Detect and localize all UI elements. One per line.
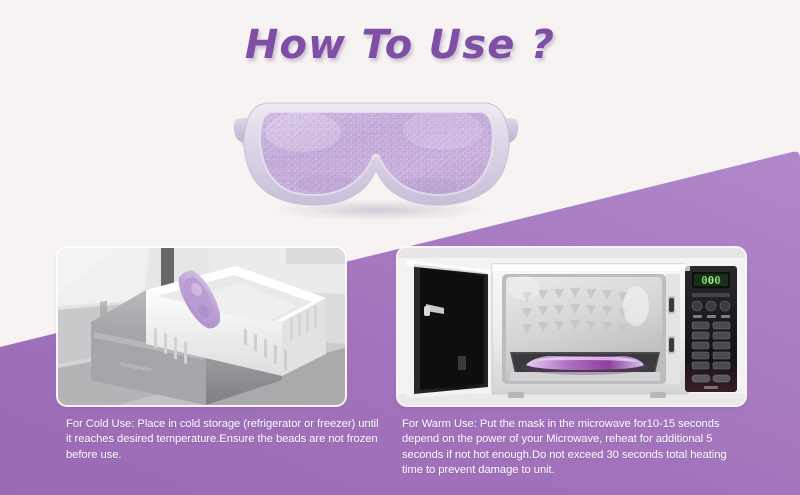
how-to-use-poster: How To Use ? [0, 0, 800, 495]
microwave-photo: 000 [398, 248, 745, 405]
microwave-control-panel: 000 [685, 266, 737, 392]
cold-use-caption: For Cold Use: Place in cold storage (ref… [66, 417, 386, 463]
warm-use-caption: For Warm Use: Put the mask in the microw… [402, 417, 747, 479]
mask-in-microwave [521, 356, 649, 375]
page-title-container: How To Use ? [0, 22, 800, 68]
page-title: How To Use ? [245, 22, 555, 68]
microwave-display-value: 000 [701, 274, 721, 287]
freezer-drawer-photo: Refrigerator [58, 248, 345, 405]
eye-mask-hero-image [231, 92, 521, 224]
